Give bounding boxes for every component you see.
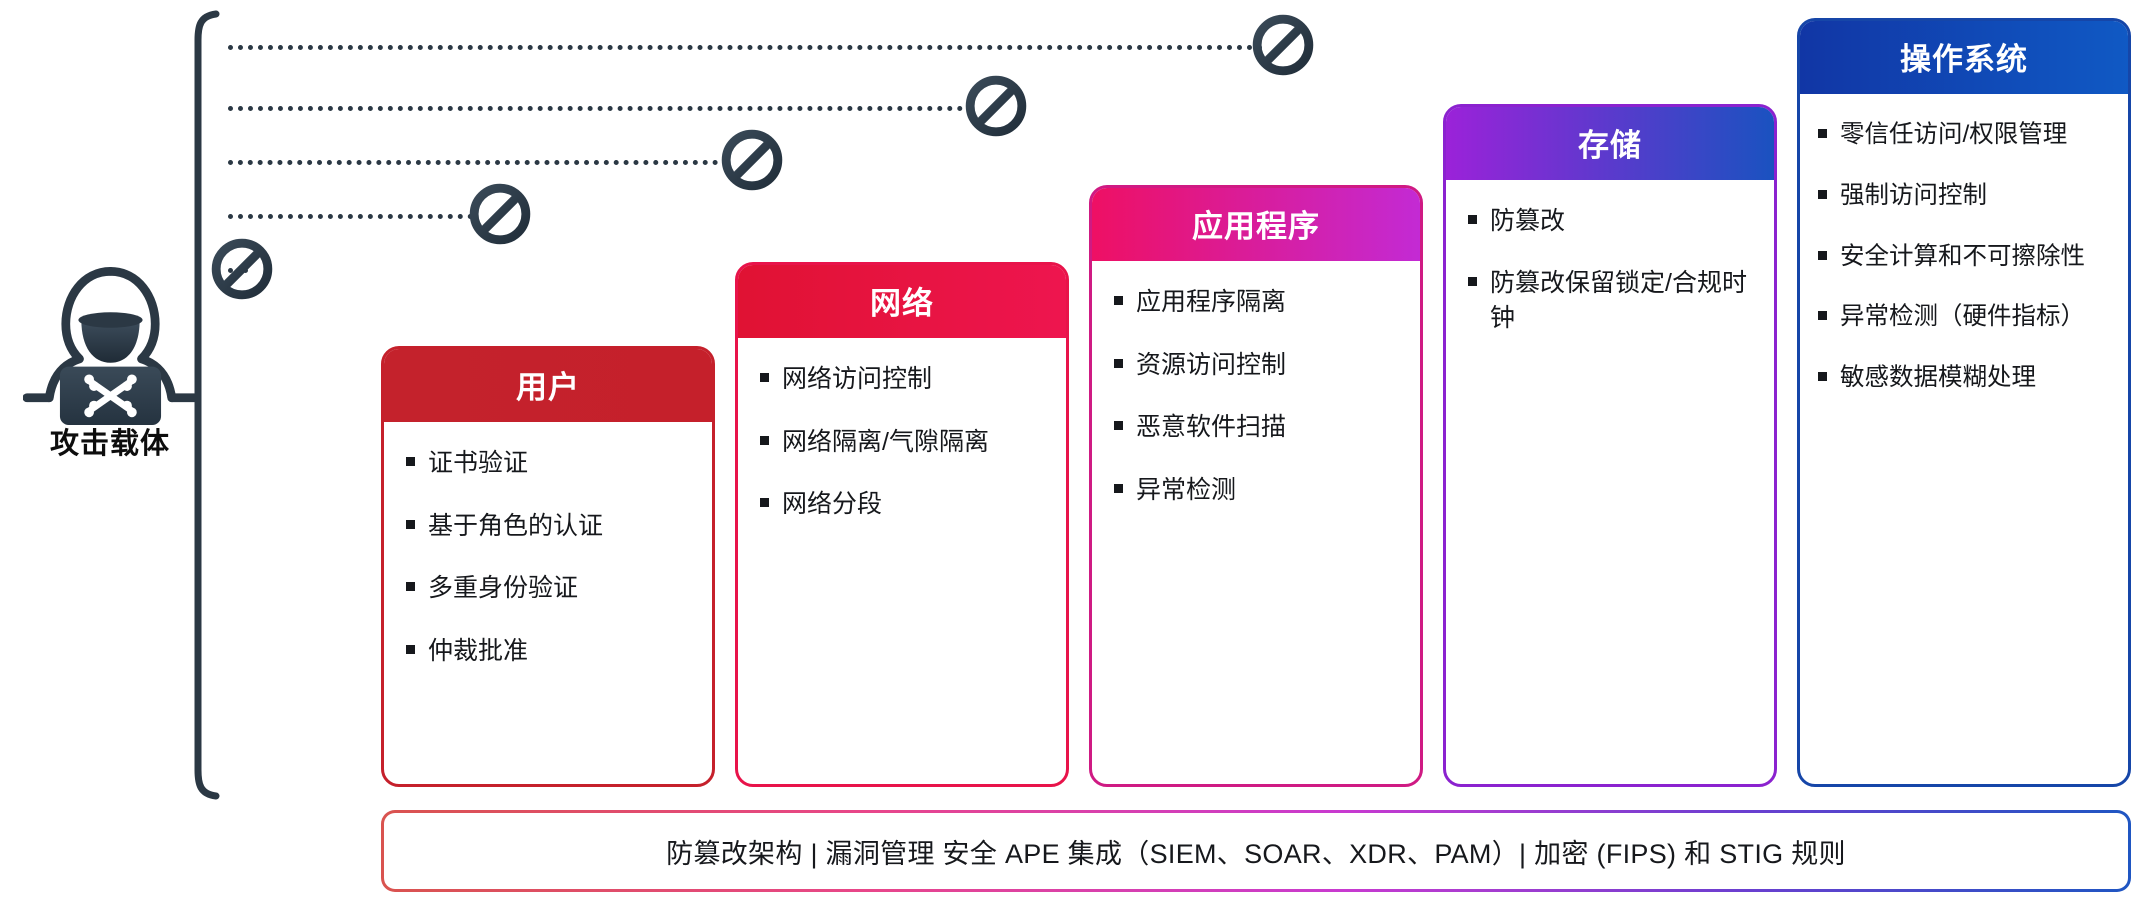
card-body-network: 网络访问控制 网络隔离/气隙隔离 网络分段	[738, 338, 1066, 784]
foundation-banner: 防篡改架构 | 漏洞管理 安全 APE 集成（SIEM、SOAR、XDR、PAM…	[381, 810, 2131, 892]
list-item-label: 网络隔离/气隙隔离	[782, 425, 1050, 461]
diagram-canvas: 攻击载体 用户 证书验证	[0, 0, 2146, 916]
bullet-icon	[1818, 372, 1827, 381]
bullet-icon	[406, 457, 415, 466]
bullet-icon	[760, 373, 769, 382]
list-item: 网络分段	[760, 487, 1050, 523]
card-body-application: 应用程序隔离 资源访问控制 恶意软件扫描 异常检测	[1092, 261, 1420, 784]
list-item: 恶意软件扫描	[1114, 410, 1404, 446]
list-item-label: 安全计算和不可擦除性	[1840, 240, 2120, 275]
card-body-storage: 防篡改 防篡改保留锁定/合规时钟	[1446, 180, 1774, 784]
card-body-operating-system: 零信任访问/权限管理 强制访问控制 安全计算和不可擦除性 异常检测（硬件指标） …	[1800, 94, 2128, 784]
list-item-label: 敏感数据模糊处理	[1840, 361, 2120, 396]
bullet-icon	[1114, 484, 1123, 493]
attack-ray-os	[228, 45, 1263, 50]
list-item-label: 异常检测（硬件指标）	[1840, 300, 2120, 335]
hacker-hoodie-laptop-icon	[23, 250, 198, 425]
bullet-icon	[1818, 311, 1827, 320]
list-item-label: 多重身份验证	[428, 571, 696, 607]
attack-ray-network	[228, 214, 473, 219]
list-item: 证书验证	[406, 446, 696, 482]
bullet-icon	[1818, 190, 1827, 199]
list-item: 异常检测（硬件指标）	[1818, 300, 2120, 335]
list-item-label: 仲裁批准	[428, 634, 696, 670]
card-title-network: 网络	[738, 265, 1066, 338]
list-item-label: 基于角色的认证	[428, 509, 696, 545]
attack-ray-app	[228, 160, 728, 165]
foundation-banner-text: 防篡改架构 | 漏洞管理 安全 APE 集成（SIEM、SOAR、XDR、PAM…	[666, 832, 1846, 871]
bullet-icon	[1114, 296, 1123, 305]
bullet-icon	[760, 498, 769, 507]
list-item-label: 应用程序隔离	[1136, 285, 1404, 321]
bullet-icon	[406, 582, 415, 591]
list-item-label: 资源访问控制	[1136, 348, 1404, 384]
bullet-icon	[1114, 359, 1123, 368]
card-title-user: 用户	[384, 349, 712, 422]
list-item: 基于角色的认证	[406, 509, 696, 545]
list-item: 防篡改	[1468, 204, 1758, 240]
list-item: 异常检测	[1114, 473, 1404, 509]
layer-card-application[interactable]: 应用程序 应用程序隔离 资源访问控制 恶意软件扫描 异常检测	[1089, 185, 1423, 787]
attack-vector-group: 攻击载体	[10, 250, 210, 461]
list-item: 强制访问控制	[1818, 179, 2120, 214]
list-item: 敏感数据模糊处理	[1818, 361, 2120, 396]
list-item-label: 零信任访问/权限管理	[1840, 118, 2120, 153]
card-title-operating-system: 操作系统	[1800, 21, 2128, 94]
list-item: 多重身份验证	[406, 571, 696, 607]
list-item-label: 防篡改	[1490, 204, 1758, 240]
list-item-label: 防篡改保留锁定/合规时钟	[1490, 266, 1758, 337]
list-item: 应用程序隔离	[1114, 285, 1404, 321]
bullet-icon	[406, 520, 415, 529]
list-item: 网络隔离/气隙隔离	[760, 425, 1050, 461]
card-title-storage: 存储	[1446, 107, 1774, 180]
attack-vector-label: 攻击载体	[10, 429, 210, 461]
list-item: 零信任访问/权限管理	[1818, 118, 2120, 153]
card-body-user: 证书验证 基于角色的认证 多重身份验证 仲裁批准	[384, 422, 712, 784]
prohibition-icon	[466, 180, 534, 248]
prohibition-icon	[962, 72, 1030, 140]
bullet-icon	[1818, 129, 1827, 138]
layer-card-operating-system[interactable]: 操作系统 零信任访问/权限管理 强制访问控制 安全计算和不可擦除性 异常检测（硬…	[1797, 18, 2131, 787]
bullet-icon	[1818, 251, 1827, 260]
prohibition-icon	[208, 235, 276, 303]
bullet-icon	[1468, 277, 1477, 286]
list-item: 仲裁批准	[406, 634, 696, 670]
layer-card-user[interactable]: 用户 证书验证 基于角色的认证 多重身份验证 仲裁批准	[381, 346, 715, 787]
bullet-icon	[1114, 421, 1123, 430]
prohibition-icon	[1249, 11, 1317, 79]
list-item-label: 网络访问控制	[782, 362, 1050, 398]
list-item-label: 恶意软件扫描	[1136, 410, 1404, 446]
bullet-icon	[760, 436, 769, 445]
layer-card-storage[interactable]: 存储 防篡改 防篡改保留锁定/合规时钟	[1443, 104, 1777, 787]
card-title-application: 应用程序	[1092, 188, 1420, 261]
list-item: 网络访问控制	[760, 362, 1050, 398]
list-item: 防篡改保留锁定/合规时钟	[1468, 266, 1758, 337]
list-item-label: 异常检测	[1136, 473, 1404, 509]
list-item: 资源访问控制	[1114, 348, 1404, 384]
layer-card-network[interactable]: 网络 网络访问控制 网络隔离/气隙隔离 网络分段	[735, 262, 1069, 787]
list-item: 安全计算和不可擦除性	[1818, 240, 2120, 275]
list-item-label: 强制访问控制	[1840, 179, 2120, 214]
list-item-label: 证书验证	[428, 446, 696, 482]
attack-ray-storage	[228, 106, 973, 111]
bullet-icon	[406, 645, 415, 654]
left-curly-bracket	[190, 10, 230, 800]
bullet-icon	[1468, 215, 1477, 224]
prohibition-icon	[718, 126, 786, 194]
list-item-label: 网络分段	[782, 487, 1050, 523]
